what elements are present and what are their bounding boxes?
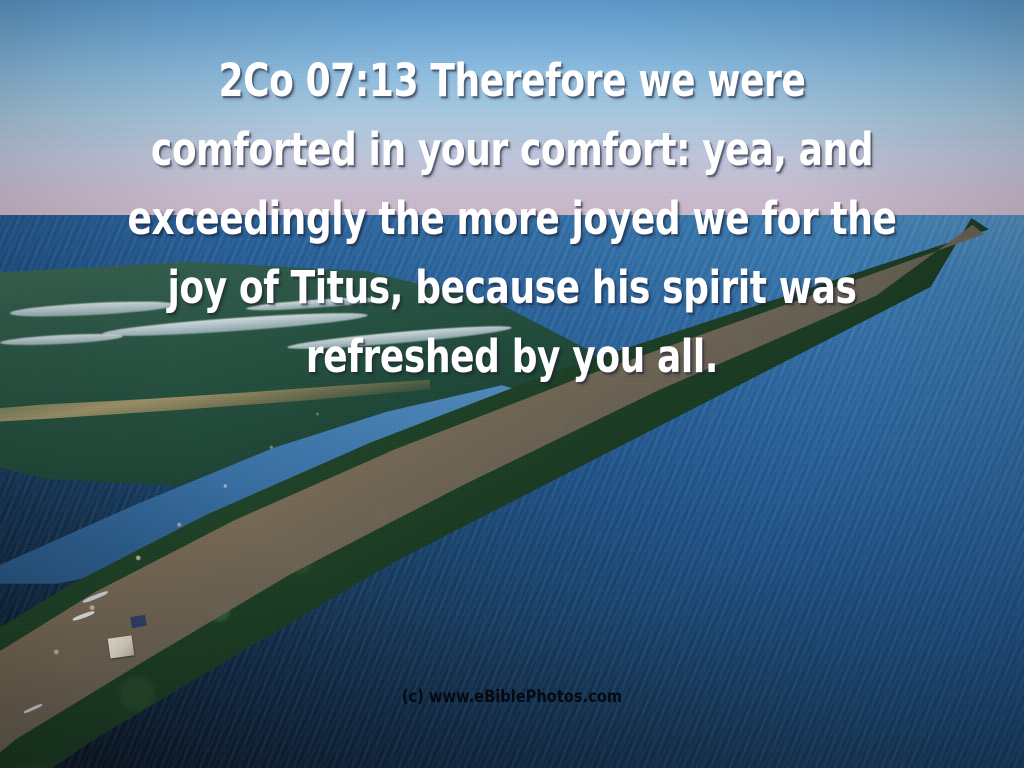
watermark-credit: (c) www.eBiblePhotos.com xyxy=(72,687,953,707)
background-photograph xyxy=(0,0,1024,768)
white-house xyxy=(107,636,133,659)
scripture-photo-card: 2Co 07:13 Therefore we were comforted in… xyxy=(0,0,1024,768)
sky-region xyxy=(0,0,1024,246)
shoreline-debris xyxy=(0,215,1024,768)
